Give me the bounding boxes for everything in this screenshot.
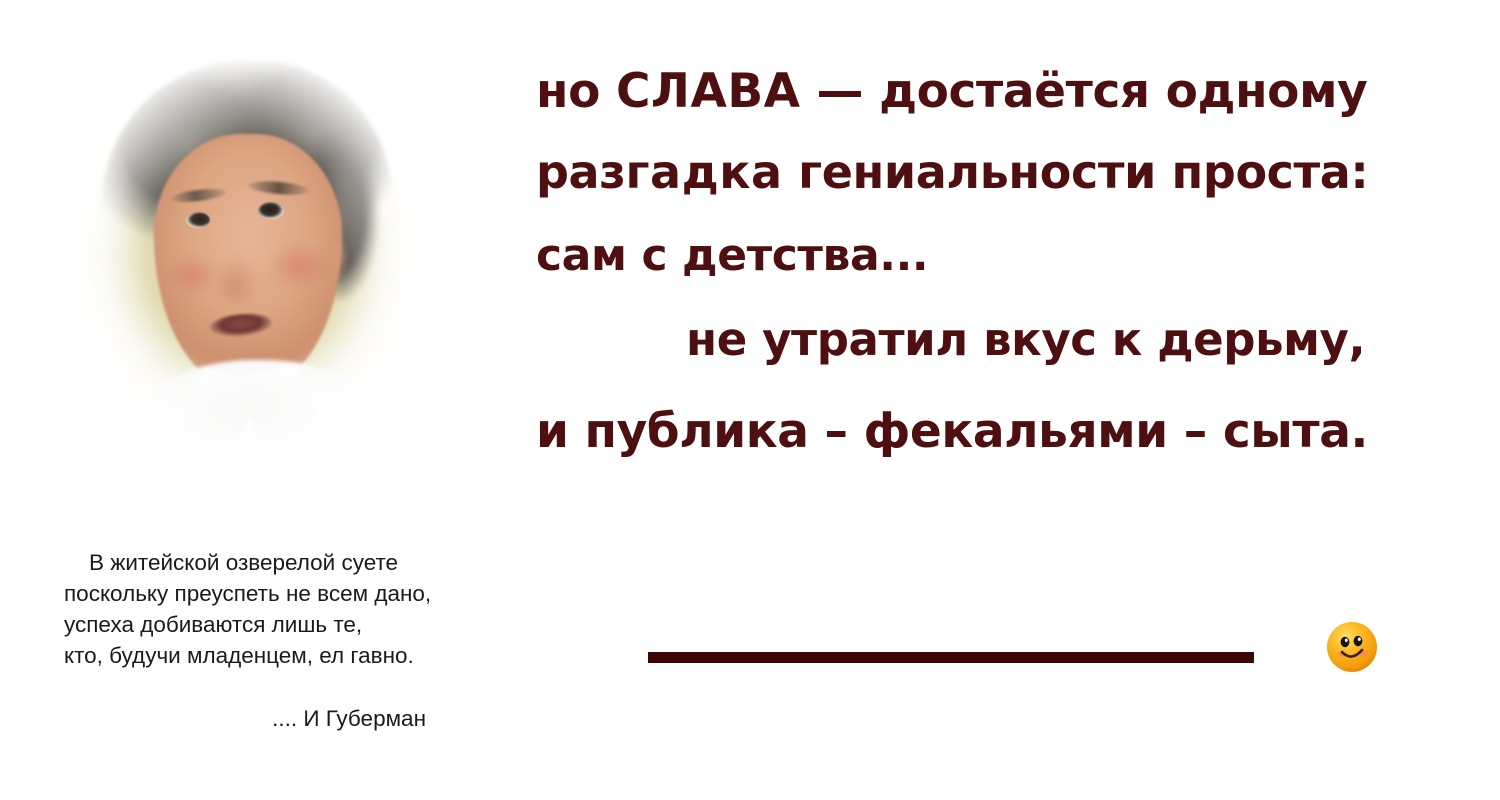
- poem-line-4: не утратил вкус к дерьму,: [536, 300, 1436, 380]
- left-cheek-shape: [166, 254, 218, 296]
- horizontal-rule: [648, 652, 1254, 663]
- right-cheek-shape: [270, 242, 328, 290]
- poem-line-3: сам с детства...: [536, 216, 1436, 296]
- slide-canvas: В житейской озверелой суете поскольку пр…: [0, 0, 1500, 800]
- smiley-face-svg: [1325, 620, 1379, 674]
- poem-line-2-prefix: раз: [536, 145, 626, 199]
- poem-line-1: но СЛАВА — достаётся одному: [536, 52, 1436, 132]
- poem-line-1-prefix: но: [536, 64, 616, 119]
- caption-text: В житейской озверелой суете поскольку пр…: [64, 550, 431, 668]
- poem-line-2-suffix: гениальности проста:: [783, 145, 1369, 199]
- portrait-illustration: [62, 42, 430, 482]
- caption-attribution: .... И Губерман: [64, 703, 494, 734]
- left-eye-shape: [186, 212, 210, 228]
- poem-block: но СЛАВА — достаётся одному разгадка ген…: [536, 52, 1436, 472]
- poem-line-1-suffix: — достаётся одному: [801, 64, 1368, 119]
- poem-line-5: и публика – фекальями – сыта.: [536, 392, 1436, 472]
- caption-block: В житейской озверелой суете поскольку пр…: [64, 516, 494, 796]
- right-eye-shape: [258, 202, 284, 219]
- poem-line-1-emphasis: СЛАВА: [616, 64, 801, 119]
- poem-line-2: разгадка гениальности проста:: [536, 132, 1436, 212]
- portrait-photo: [62, 42, 430, 482]
- smiley-face-icon: [1325, 620, 1379, 674]
- poem-line-2-emphasis: гадка: [626, 145, 783, 199]
- nose-shape: [212, 230, 264, 304]
